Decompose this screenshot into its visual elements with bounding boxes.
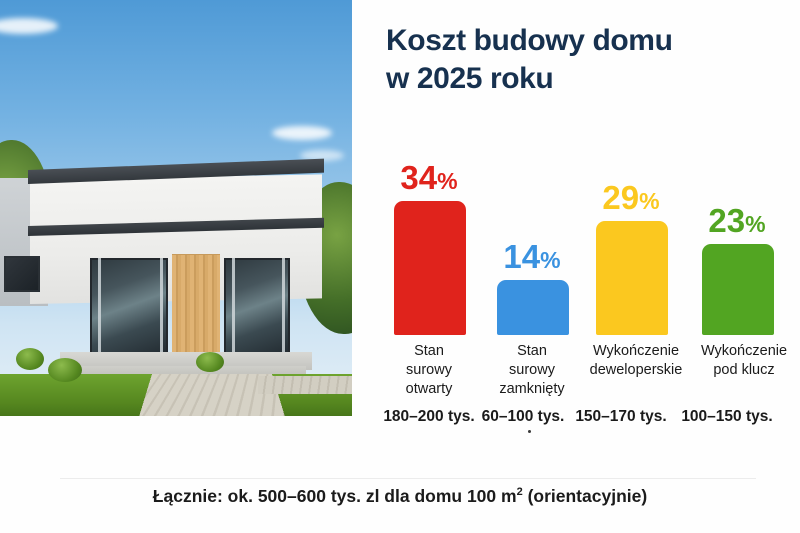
cost-bar-chart: 34% 14% 29% 23% <box>380 130 800 420</box>
bar-value-number: 23 <box>708 202 745 239</box>
page-title-line-1: Koszt budowy domu <box>386 22 786 60</box>
footer-divider <box>60 478 756 479</box>
bar-column-stan-surowy-zamkniety[interactable]: 14% <box>493 130 571 335</box>
bar-value-number: 29 <box>602 179 639 216</box>
price-wykonczenie-deweloperskie: 150–170 tys. <box>570 408 672 426</box>
shrub <box>16 348 44 370</box>
bar-value-label: 23% <box>698 204 776 237</box>
stray-dot-artifact <box>528 430 531 433</box>
bar-value-label: 14% <box>493 240 571 273</box>
bar-labels-row: Stan surowy otwarty Stan surowy zamknięt… <box>380 342 800 404</box>
bar-value-number: 14 <box>503 238 540 275</box>
page-title-line-2: w 2025 roku <box>386 60 786 98</box>
page-title: Koszt budowy domu w 2025 roku <box>386 22 786 99</box>
side-window <box>4 256 40 292</box>
bar-column-stan-surowy-otwarty[interactable]: 34% <box>390 130 468 335</box>
shrub <box>48 358 82 382</box>
paved-walkway-side <box>258 376 352 394</box>
footer-total-note: Łącznie: ok. 500–600 tys. zl dla domu 10… <box>0 486 800 507</box>
percent-sign: % <box>540 247 560 273</box>
shrub <box>196 352 224 372</box>
bar-value-number: 34 <box>400 159 437 196</box>
bar-rect[interactable] <box>596 221 668 335</box>
bar-group: 34% 14% 29% 23% <box>380 130 800 335</box>
house-photo <box>0 0 352 416</box>
bar-value-label: 29% <box>592 181 670 214</box>
cloud-icon <box>272 126 332 140</box>
glass-panel-left <box>90 258 168 354</box>
price-wykonczenie-pod-klucz: 100–150 tys. <box>676 408 778 426</box>
bar-column-wykonczenie-deweloperskie[interactable]: 29% <box>592 130 670 335</box>
percent-sign: % <box>639 188 659 214</box>
bar-rect[interactable] <box>394 201 466 335</box>
footer-text-suffix: (orientacyjnie) <box>523 486 647 506</box>
price-stan-surowy-zamkniety: 60–100 tys. <box>477 408 569 426</box>
bar-label-stan-surowy-zamkniety: Stan surowy zamknięty <box>484 342 580 399</box>
footer-text-prefix: Łącznie: ok. 500–600 tys. zl dla domu 10… <box>153 486 517 506</box>
percent-sign: % <box>745 211 765 237</box>
price-stan-surowy-otwarty: 180–200 tys. <box>379 408 479 426</box>
bar-rect[interactable] <box>497 280 569 335</box>
bar-label-wykonczenie-pod-klucz: Wykończenie pod klucz <box>690 342 798 380</box>
window-mullion <box>160 258 163 354</box>
bar-value-label: 34% <box>390 161 468 194</box>
bar-label-wykonczenie-deweloperskie: Wykończenie deweloperskie <box>582 342 690 380</box>
wood-cladding-panel <box>172 254 220 358</box>
infographic-canvas: Koszt budowy domu w 2025 roku 34% 14% <box>0 0 800 533</box>
bar-label-stan-surowy-otwarty: Stan surowy otwarty <box>382 342 476 399</box>
window-mullion <box>282 258 285 354</box>
bar-rect[interactable] <box>702 244 774 335</box>
percent-sign: % <box>437 168 457 194</box>
window-mullion <box>98 258 101 354</box>
price-range-row: 180–200 tys. 60–100 tys. 150–170 tys. 10… <box>380 408 800 432</box>
bar-column-wykonczenie-pod-klucz[interactable]: 23% <box>698 130 776 335</box>
window-mullion <box>232 258 235 354</box>
